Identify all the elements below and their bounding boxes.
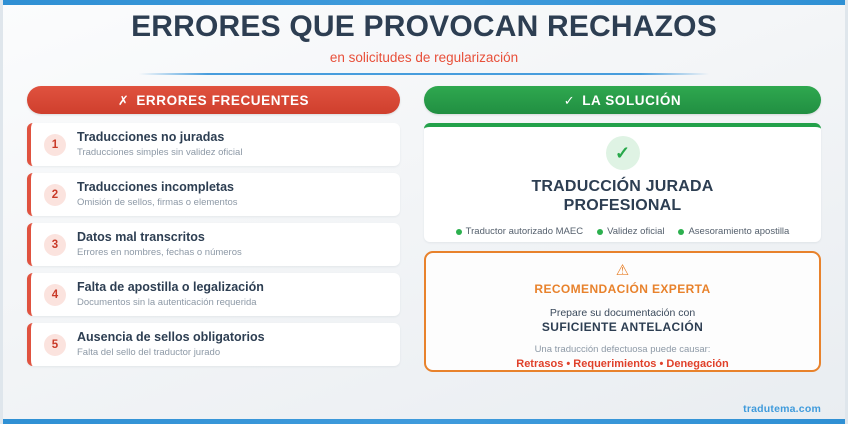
check-icon: ✓	[564, 94, 576, 107]
list-item[interactable]: 4 Falta de apostilla o legalización Docu…	[27, 273, 400, 316]
error-title: Datos mal transcritos	[77, 230, 242, 245]
error-title: Falta de apostilla o legalización	[77, 280, 264, 295]
error-number-badge: 5	[44, 334, 66, 356]
error-subtitle: Errores en nombres, fechas o números	[77, 246, 242, 259]
errors-column-header-label: ERRORES FRECUENTES	[136, 93, 309, 108]
top-accent-bar	[0, 0, 848, 5]
errors-column: ✗ ERRORES FRECUENTES 1 Traducciones no j…	[27, 86, 400, 373]
error-title: Ausencia de sellos obligatorios	[77, 330, 265, 345]
recommendation-line4: Retrasos • Requerimientos • Denegación	[426, 357, 819, 371]
recommendation-title: RECOMENDACIÓN EXPERTA	[426, 282, 819, 296]
feature-label: Asesoramiento apostilla	[688, 226, 789, 237]
bullet-dot-icon	[456, 229, 462, 235]
error-number-badge: 1	[44, 134, 66, 156]
error-subtitle: Falta del sello del traductor jurado	[77, 346, 265, 359]
list-item[interactable]: 3 Datos mal transcritos Errores en nombr…	[27, 223, 400, 266]
error-subtitle: Documentos sin la autenticación requerid…	[77, 296, 264, 309]
list-item: Traductor autorizado MAEC	[456, 226, 583, 237]
solution-features: Traductor autorizado MAEC Validez oficia…	[424, 226, 821, 237]
feature-label: Traductor autorizado MAEC	[466, 226, 583, 237]
error-subtitle: Traducciones simples sin validez oficial	[77, 146, 242, 159]
recommendation-box: ⚠ RECOMENDACIÓN EXPERTA Prepare su docum…	[424, 251, 821, 372]
recommendation-line2: SUFICIENTE ANTELACIÓN	[426, 320, 819, 335]
list-item: Asesoramiento apostilla	[678, 226, 789, 237]
errors-column-header: ✗ ERRORES FRECUENTES	[27, 86, 400, 114]
error-text: Traducciones no juradas Traducciones sim…	[77, 130, 242, 159]
error-number-badge: 3	[44, 234, 66, 256]
solution-title: TRADUCCIÓN JURADA PROFESIONAL	[424, 177, 821, 215]
feature-label: Validez oficial	[607, 226, 664, 237]
solution-column: ✓ LA SOLUCIÓN ✓ TRADUCCIÓN JURADA PROFES…	[424, 86, 821, 372]
list-item[interactable]: 5 Ausencia de sellos obligatorios Falta …	[27, 323, 400, 366]
bullet-dot-icon	[597, 229, 603, 235]
error-text: Datos mal transcritos Errores en nombres…	[77, 230, 242, 259]
solution-title-line1: TRADUCCIÓN JURADA	[424, 177, 821, 196]
error-title: Traducciones no juradas	[77, 130, 242, 145]
error-subtitle: Omisión de sellos, firmas o elementos	[77, 196, 238, 209]
page-subtitle: en solicitudes de regularización	[0, 50, 848, 66]
warning-triangle-icon: ⚠	[426, 263, 819, 279]
solution-card: ✓ TRADUCCIÓN JURADA PROFESIONAL Traducto…	[424, 123, 821, 242]
page-title: ERRORES QUE PROVOCAN RECHAZOS	[0, 9, 848, 45]
error-number-badge: 2	[44, 184, 66, 206]
solution-column-header-label: LA SOLUCIÓN	[582, 93, 681, 108]
error-title: Traducciones incompletas	[77, 180, 238, 195]
error-text: Ausencia de sellos obligatorios Falta de…	[77, 330, 265, 359]
error-text: Falta de apostilla o legalización Docume…	[77, 280, 264, 309]
recommendation-line3: Una traducción defectuosa puede causar:	[426, 343, 819, 356]
list-item[interactable]: 1 Traducciones no juradas Traducciones s…	[27, 123, 400, 166]
recommendation-line1: Prepare su documentación con	[426, 306, 819, 320]
bottom-accent-bar	[0, 419, 848, 424]
list-item[interactable]: 2 Traducciones incompletas Omisión de se…	[27, 173, 400, 216]
list-item: Validez oficial	[597, 226, 664, 237]
bullet-dot-icon	[678, 229, 684, 235]
solution-column-header: ✓ LA SOLUCIÓN	[424, 86, 821, 114]
footer-brand[interactable]: tradutema.com	[743, 403, 821, 415]
solution-title-line2: PROFESIONAL	[424, 196, 821, 215]
infographic-poster: ERRORES QUE PROVOCAN RECHAZOS en solicit…	[0, 0, 848, 424]
header-divider	[139, 73, 709, 75]
cross-icon: ✗	[118, 94, 130, 107]
errors-list: 1 Traducciones no juradas Traducciones s…	[27, 123, 400, 366]
poster-header: ERRORES QUE PROVOCAN RECHAZOS en solicit…	[0, 9, 848, 75]
check-badge-icon: ✓	[606, 136, 640, 170]
error-text: Traducciones incompletas Omisión de sell…	[77, 180, 238, 209]
error-number-badge: 4	[44, 284, 66, 306]
